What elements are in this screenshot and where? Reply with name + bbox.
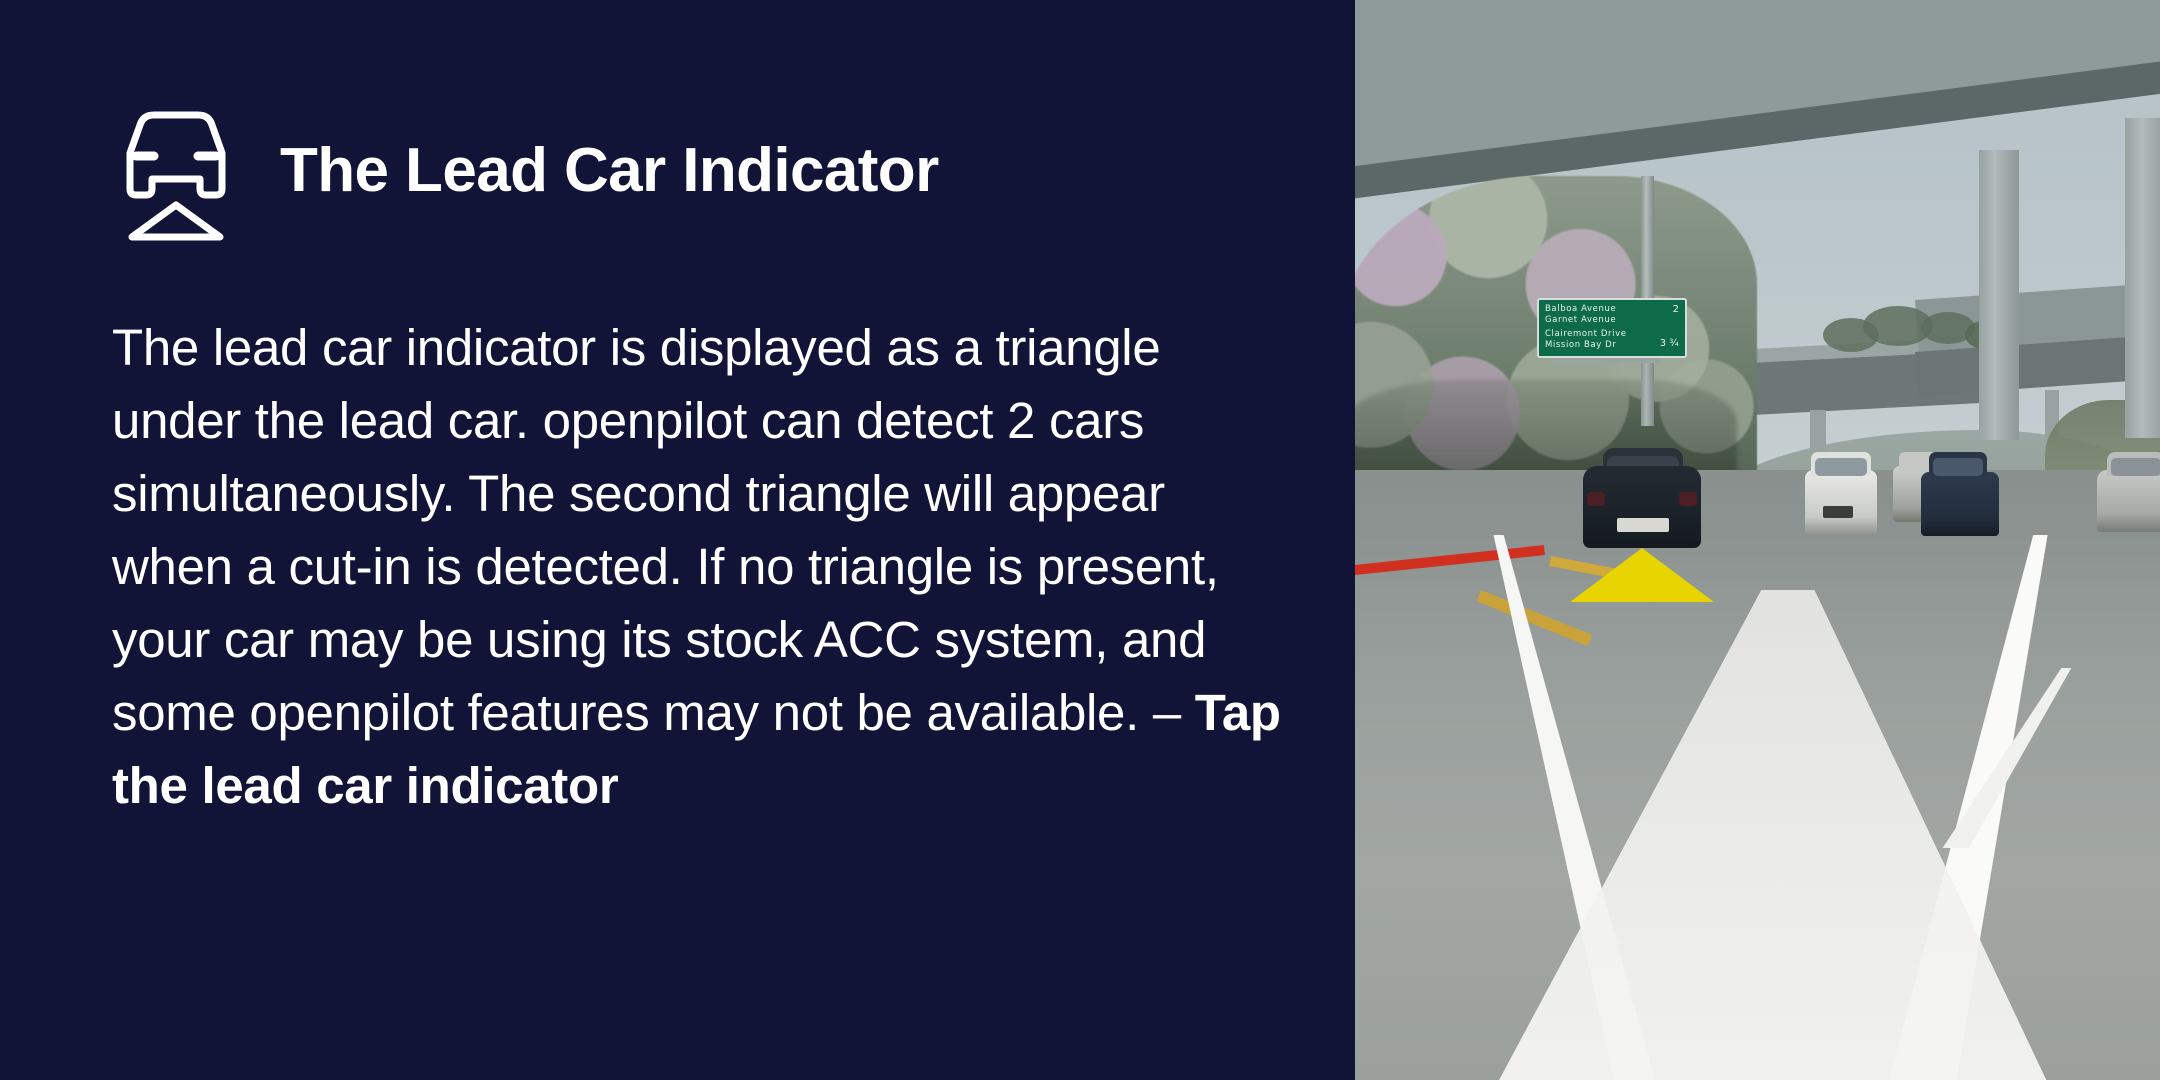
page-title: The Lead Car Indicator [280,138,939,203]
lead-car-indicator-icon [112,101,240,241]
sign-destination: Clairemont Drive [1545,329,1627,339]
sign-post-lower [1641,356,1654,426]
body-intro-text: The lead car indicator is displayed as a… [112,319,1219,741]
blue-truck-window [1933,458,1983,476]
sign-post-upper [1641,176,1654,304]
white-suv-window [1815,458,1867,476]
highway-dashcam-photo: Balboa Avenue Garnet Avenue Clairemont D… [1355,0,2160,1080]
overpass-pier-right [2125,118,2160,438]
sign-distance-top: 2 [1673,305,1679,315]
onboarding-slide: The Lead Car Indicator The lead car indi… [0,0,2160,1080]
silver-car-window [2111,458,2160,476]
slide-header: The Lead Car Indicator [112,96,1295,246]
lead-car-indicator-triangle[interactable] [1570,548,1714,602]
slide-body-text: The lead car indicator is displayed as a… [112,312,1292,822]
white-suv [1805,470,1877,536]
lead-car-taillight-right [1679,492,1697,506]
info-panel-content: The Lead Car Indicator The lead car indi… [112,96,1295,822]
sign-destination-list: Balboa Avenue Garnet Avenue Clairemont D… [1545,304,1627,352]
white-suv-plate [1823,506,1853,518]
lead-car [1583,466,1701,548]
info-panel: The Lead Car Indicator The lead car indi… [0,0,1355,1080]
sign-support-beam [1551,358,1661,363]
lead-car-plate [1617,518,1669,532]
overpass-pier-left [1979,150,2019,440]
sign-destination: Garnet Avenue [1545,315,1627,325]
sign-destination: Mission Bay Dr [1545,340,1627,350]
sign-destination: Balboa Avenue [1545,304,1627,314]
sign-distance-bottom: 3 ¾ [1660,339,1679,349]
lead-car-taillight-left [1587,492,1605,506]
highway-exit-sign: Balboa Avenue Garnet Avenue Clairemont D… [1537,298,1687,358]
silver-car [2097,470,2160,532]
blue-truck [1921,472,1999,536]
sign-distance-list: 2 3 ¾ [1660,304,1679,352]
